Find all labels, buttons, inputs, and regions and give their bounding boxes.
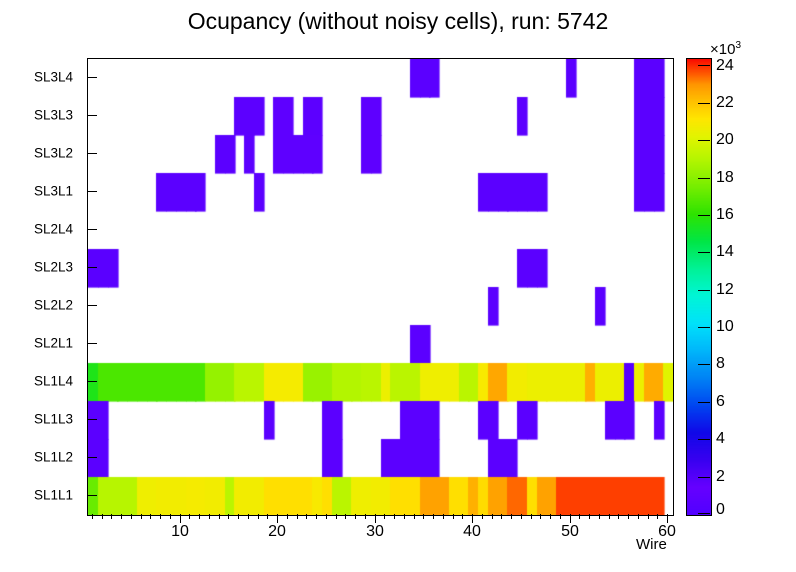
colorbar-tick: [698, 327, 710, 328]
y-axis-label-sl2l1: SL2L1: [34, 336, 73, 351]
colorbar-label-6: 6: [716, 393, 725, 411]
y-axis-label-sl2l2: SL2L2: [34, 298, 73, 313]
x-axis-minor-tick: [540, 514, 541, 519]
colorbar-gradient: [686, 58, 712, 516]
colorbar: ×103 024681012141618202224: [686, 58, 790, 516]
root-canvas: Ocupancy (without noisy cells), run: 574…: [0, 0, 796, 572]
heatmap-plot-area: [87, 58, 674, 516]
colorbar-tick: [698, 364, 710, 365]
x-axis-minor-tick: [550, 514, 551, 519]
colorbar-label-2: 2: [716, 468, 725, 486]
y-axis-label-sl2l3: SL2L3: [34, 260, 73, 275]
x-axis-minor-tick: [306, 514, 307, 519]
y-axis-label-sl3l4: SL3L4: [34, 70, 73, 85]
x-axis-minor-tick: [365, 514, 366, 519]
x-axis-major-tick: [277, 514, 278, 523]
x-axis-minor-tick: [199, 514, 200, 519]
x-axis-minor-tick: [531, 514, 532, 519]
colorbar-label-10: 10: [716, 318, 734, 336]
x-axis-label-40: 40: [463, 523, 481, 541]
x-axis-minor-tick: [131, 514, 132, 519]
x-axis-minor-tick: [219, 514, 220, 519]
colorbar-tick: [698, 290, 710, 291]
page-title: Ocupancy (without noisy cells), run: 574…: [0, 8, 796, 35]
y-axis-tick: [87, 457, 97, 458]
x-axis-minor-tick: [316, 514, 317, 519]
x-axis-minor-tick: [628, 514, 629, 519]
y-axis-tick: [87, 267, 97, 268]
x-axis-title: Wire: [636, 536, 667, 553]
colorbar-label-14: 14: [716, 243, 734, 261]
x-axis-minor-tick: [355, 514, 356, 519]
colorbar-tick: [698, 65, 710, 66]
x-axis-minor-tick: [443, 514, 444, 519]
colorbar-label-4: 4: [716, 430, 725, 448]
x-axis-minor-tick: [638, 514, 639, 519]
x-axis-minor-tick: [589, 514, 590, 519]
colorbar-tick: [698, 439, 710, 440]
x-axis-minor-tick: [433, 514, 434, 519]
x-axis-minor-tick: [92, 514, 93, 519]
colorbar-label-16: 16: [716, 206, 734, 224]
x-axis-minor-tick: [648, 514, 649, 519]
colorbar-label-12: 12: [716, 281, 734, 299]
x-axis-minor-tick: [287, 514, 288, 519]
x-axis-minor-tick: [462, 514, 463, 519]
x-axis-minor-tick: [160, 514, 161, 519]
x-axis-minor-tick: [150, 514, 151, 519]
x-axis-minor-tick: [384, 514, 385, 519]
x-axis-major-tick: [375, 514, 376, 523]
y-axis-tick: [87, 381, 97, 382]
colorbar-tick: [698, 215, 710, 216]
colorbar-label-0: 0: [716, 501, 725, 519]
x-axis-minor-tick: [258, 514, 259, 519]
colorbar-exponent: ×103: [710, 40, 741, 58]
x-axis-label-50: 50: [561, 523, 579, 541]
colorbar-tick: [698, 513, 710, 514]
y-axis-tick: [87, 191, 97, 192]
x-axis-minor-tick: [579, 514, 580, 519]
y-axis-label-sl1l2: SL1L2: [34, 450, 73, 465]
y-axis-label-sl3l3: SL3L3: [34, 108, 73, 123]
x-axis-minor-tick: [121, 514, 122, 519]
colorbar-label-8: 8: [716, 355, 725, 373]
colorbar-canvas: [687, 59, 711, 515]
colorbar-label-24: 24: [716, 57, 734, 75]
colorbar-tick: [698, 178, 710, 179]
x-axis-minor-tick: [111, 514, 112, 519]
x-axis-minor-tick: [238, 514, 239, 519]
x-axis-minor-tick: [560, 514, 561, 519]
x-axis-minor-tick: [618, 514, 619, 519]
y-axis-label-sl3l2: SL3L2: [34, 146, 73, 161]
x-axis-major-tick: [180, 514, 181, 523]
y-axis-tick: [87, 77, 97, 78]
x-axis-minor-tick: [141, 514, 142, 519]
colorbar-label-20: 20: [716, 131, 734, 149]
x-axis-label-30: 30: [366, 523, 384, 541]
x-axis-minor-tick: [170, 514, 171, 519]
x-axis-minor-tick: [345, 514, 346, 519]
colorbar-tick: [698, 402, 710, 403]
colorbar-label-18: 18: [716, 169, 734, 187]
y-axis: SL3L4SL3L3SL3L2SL3L1SL2L4SL2L3SL2L2SL2L1…: [0, 58, 85, 514]
x-axis-minor-tick: [394, 514, 395, 519]
colorbar-tick: [698, 103, 710, 104]
x-axis-minor-tick: [404, 514, 405, 519]
y-axis-label-sl2l4: SL2L4: [34, 222, 73, 237]
x-axis-minor-tick: [511, 514, 512, 519]
x-axis-minor-tick: [492, 514, 493, 519]
y-axis-tick: [87, 115, 97, 116]
x-axis-minor-tick: [657, 514, 658, 519]
x-axis: 102030405060: [87, 514, 673, 554]
heatmap-canvas: [88, 59, 673, 515]
x-axis-minor-tick: [102, 514, 103, 519]
x-axis-minor-tick: [228, 514, 229, 519]
x-axis-minor-tick: [248, 514, 249, 519]
x-axis-minor-tick: [336, 514, 337, 519]
x-axis-minor-tick: [189, 514, 190, 519]
x-axis-minor-tick: [599, 514, 600, 519]
y-axis-label-sl1l3: SL1L3: [34, 412, 73, 427]
y-axis-tick: [87, 153, 97, 154]
x-axis-major-tick: [472, 514, 473, 523]
x-axis-minor-tick: [267, 514, 268, 519]
x-axis-major-tick: [570, 514, 571, 523]
y-axis-tick: [87, 419, 97, 420]
x-axis-minor-tick: [414, 514, 415, 519]
x-axis-label-10: 10: [171, 523, 189, 541]
colorbar-tick: [698, 477, 710, 478]
colorbar-tick: [698, 140, 710, 141]
x-axis-minor-tick: [482, 514, 483, 519]
x-axis-minor-tick: [453, 514, 454, 519]
x-axis-minor-tick: [521, 514, 522, 519]
y-axis-tick: [87, 343, 97, 344]
y-axis-label-sl3l1: SL3L1: [34, 184, 73, 199]
y-axis-tick: [87, 495, 97, 496]
x-axis-minor-tick: [326, 514, 327, 519]
y-axis-tick: [87, 305, 97, 306]
y-axis-label-sl1l1: SL1L1: [34, 488, 73, 503]
x-axis-minor-tick: [501, 514, 502, 519]
y-axis-tick: [87, 229, 97, 230]
y-axis-label-sl1l4: SL1L4: [34, 374, 73, 389]
x-axis-label-20: 20: [268, 523, 286, 541]
x-axis-minor-tick: [209, 514, 210, 519]
x-axis-minor-tick: [297, 514, 298, 519]
x-axis-minor-tick: [423, 514, 424, 519]
x-axis-minor-tick: [609, 514, 610, 519]
colorbar-label-22: 22: [716, 94, 734, 112]
colorbar-tick: [698, 252, 710, 253]
x-axis-major-tick: [667, 514, 668, 523]
colorbar-exponent-superscript: 3: [735, 40, 741, 51]
